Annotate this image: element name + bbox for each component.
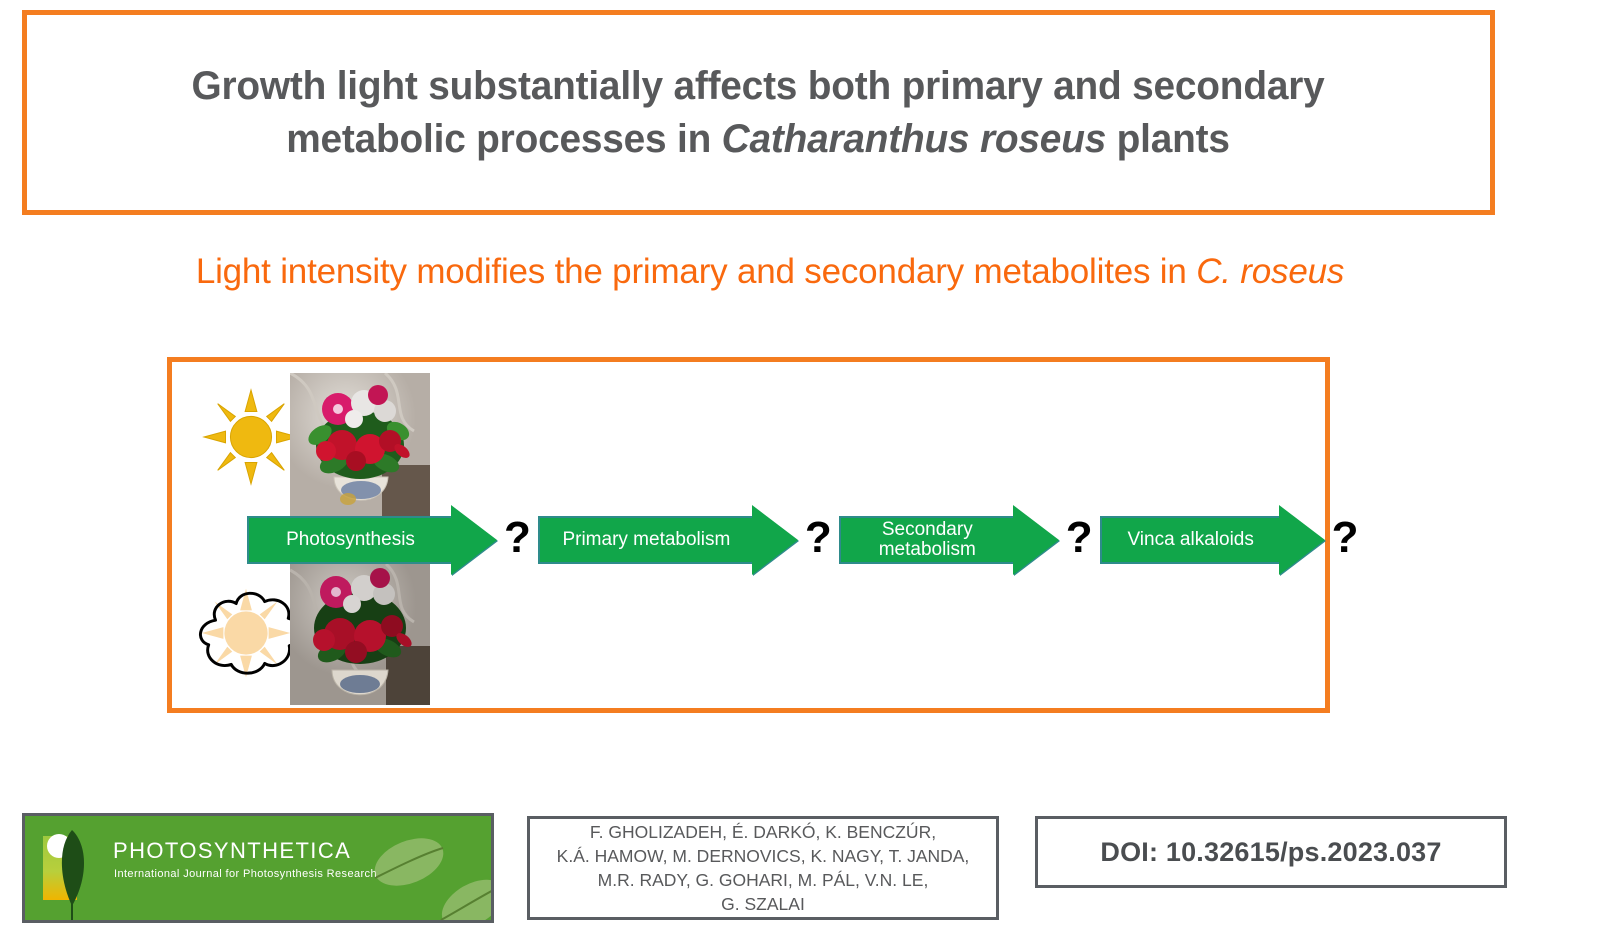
- question-mark-3: ?: [1059, 516, 1100, 560]
- journal-name: PHOTOSYNTHETICA: [113, 838, 351, 864]
- title-line-2-suffix: plants: [1107, 117, 1231, 161]
- flow-arrow-photosynthesis: Photosynthesis: [247, 516, 497, 564]
- doi-text[interactable]: DOI: 10.32615/ps.2023.037: [1100, 837, 1441, 868]
- graphical-abstract-diagram: Photosynthesis ? Primary metabolism ? Se…: [167, 357, 1330, 713]
- title-line-1: Growth light substantially affects both …: [192, 64, 1325, 108]
- leaf-decoration-icon: [361, 822, 491, 923]
- question-mark-1: ?: [497, 516, 538, 560]
- flow-arrow-vinca-alkaloids: Vinca alkaloids: [1100, 516, 1325, 564]
- flow-arrow-primary-metabolism: Primary metabolism: [538, 516, 798, 564]
- photosynthetica-emblem-icon: [39, 824, 101, 920]
- doi-box: DOI: 10.32615/ps.2023.037: [1035, 816, 1507, 888]
- subtitle: Light intensity modifies the primary and…: [0, 252, 1540, 292]
- flow-arrow-label-vinca-alkaloids: Vinca alkaloids: [1100, 516, 1280, 564]
- sun-icon: [202, 388, 300, 486]
- question-mark-2: ?: [798, 516, 839, 560]
- authors-box: F. GHOLIZADEH, É. DARKÓ, K. BENCZÚR, K.Á…: [527, 816, 999, 920]
- catharanthus-plant-low-light-photo: [290, 560, 430, 705]
- title-species-name: Catharanthus roseus: [722, 117, 1106, 161]
- arrow-head-icon: [1279, 505, 1325, 575]
- flow-arrow-label-primary-metabolism: Primary metabolism: [538, 516, 753, 564]
- process-flow: Photosynthesis ? Primary metabolism ? Se…: [247, 505, 1327, 575]
- journal-logo: PHOTOSYNTHETICA International Journal fo…: [22, 813, 494, 923]
- subtitle-species-name: C. roseus: [1196, 252, 1344, 291]
- page-title: Growth light substantially affects both …: [153, 60, 1364, 166]
- flow-arrow-label-secondary-metabolism: Secondary metabolism: [839, 516, 1014, 564]
- authors-list: F. GHOLIZADEH, É. DARKÓ, K. BENCZÚR, K.Á…: [557, 820, 970, 917]
- arrow-head-icon: [752, 505, 798, 575]
- journal-tagline: International Journal for Photosynthesis…: [114, 868, 377, 880]
- subtitle-text: Light intensity modifies the primary and…: [196, 252, 1196, 291]
- flow-arrow-label-photosynthesis: Photosynthesis: [247, 516, 452, 564]
- title-line-2-prefix: metabolic processes in: [287, 117, 722, 161]
- title-box: Growth light substantially affects both …: [22, 10, 1495, 215]
- arrow-head-icon: [451, 505, 497, 575]
- question-mark-4: ?: [1325, 516, 1366, 560]
- flow-arrow-secondary-metabolism: Secondary metabolism: [839, 516, 1059, 564]
- catharanthus-plant-high-light-photo: [290, 373, 430, 518]
- arrow-head-icon: [1013, 505, 1059, 575]
